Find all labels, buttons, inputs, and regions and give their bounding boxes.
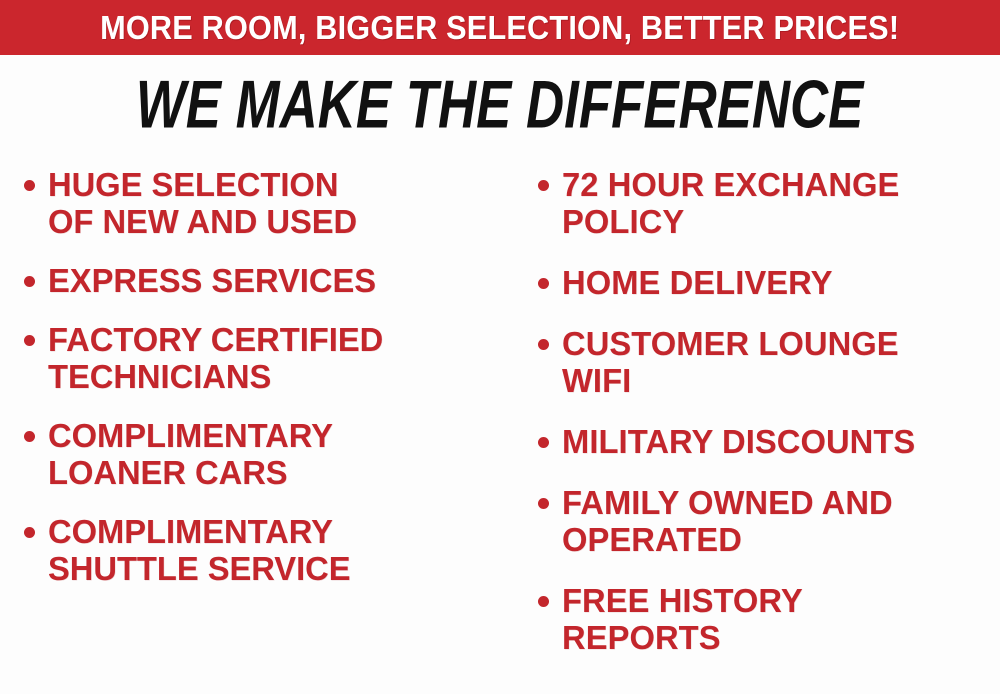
- list-item-label: FREE HISTORY REPORTS: [562, 582, 996, 656]
- benefits-columns: HUGE SELECTION OF NEW AND USED EXPRESS S…: [0, 158, 1000, 694]
- list-item-label: HOME DELIVERY: [562, 264, 996, 301]
- list-item-label: COMPLIMENTARY LOANER CARS: [48, 417, 505, 491]
- list-item: FAMILY OWNED AND OPERATED: [532, 484, 1000, 558]
- bullet-icon: [24, 335, 35, 346]
- benefits-column-right: 72 HOUR EXCHANGE POLICY HOME DELIVERY CU…: [510, 158, 1000, 694]
- benefits-column-left: HUGE SELECTION OF NEW AND USED EXPRESS S…: [0, 158, 510, 694]
- list-item-label: FACTORY CERTIFIED TECHNICIANS: [48, 321, 505, 395]
- list-item-label: CUSTOMER LOUNGE WIFI: [562, 325, 996, 399]
- list-item-label: MILITARY DISCOUNTS: [562, 423, 996, 460]
- list-item: CUSTOMER LOUNGE WIFI: [532, 325, 1000, 399]
- bullet-icon: [538, 278, 549, 289]
- list-item: FREE HISTORY REPORTS: [532, 582, 1000, 656]
- list-item: COMPLIMENTARY SHUTTLE SERVICE: [18, 513, 510, 587]
- bullet-icon: [538, 498, 549, 509]
- list-item: 72 HOUR EXCHANGE POLICY: [532, 166, 1000, 240]
- page-title: WE MAKE THE DIFFERENCE: [136, 70, 863, 138]
- promo-poster: MORE ROOM, BIGGER SELECTION, BETTER PRIC…: [0, 0, 1000, 694]
- banner-headline: MORE ROOM, BIGGER SELECTION, BETTER PRIC…: [100, 11, 899, 44]
- list-item-label: 72 HOUR EXCHANGE POLICY: [562, 166, 996, 240]
- list-item: EXPRESS SERVICES: [18, 262, 510, 299]
- list-item-label: HUGE SELECTION OF NEW AND USED: [48, 166, 505, 240]
- main-headline-area: WE MAKE THE DIFFERENCE: [0, 68, 1000, 140]
- top-banner: MORE ROOM, BIGGER SELECTION, BETTER PRIC…: [0, 0, 1000, 55]
- list-item: HUGE SELECTION OF NEW AND USED: [18, 166, 510, 240]
- list-item-label: COMPLIMENTARY SHUTTLE SERVICE: [48, 513, 505, 587]
- list-item-label: FAMILY OWNED AND OPERATED: [562, 484, 996, 558]
- list-item: FACTORY CERTIFIED TECHNICIANS: [18, 321, 510, 395]
- list-item: COMPLIMENTARY LOANER CARS: [18, 417, 510, 491]
- bullet-icon: [538, 596, 549, 607]
- bullet-icon: [538, 180, 549, 191]
- bullet-icon: [24, 180, 35, 191]
- bullet-icon: [24, 431, 35, 442]
- list-item: HOME DELIVERY: [532, 264, 1000, 301]
- bullet-icon: [24, 527, 35, 538]
- bullet-icon: [24, 276, 35, 287]
- bullet-icon: [538, 339, 549, 350]
- list-item-label: EXPRESS SERVICES: [48, 262, 505, 299]
- bullet-icon: [538, 437, 549, 448]
- list-item: MILITARY DISCOUNTS: [532, 423, 1000, 460]
